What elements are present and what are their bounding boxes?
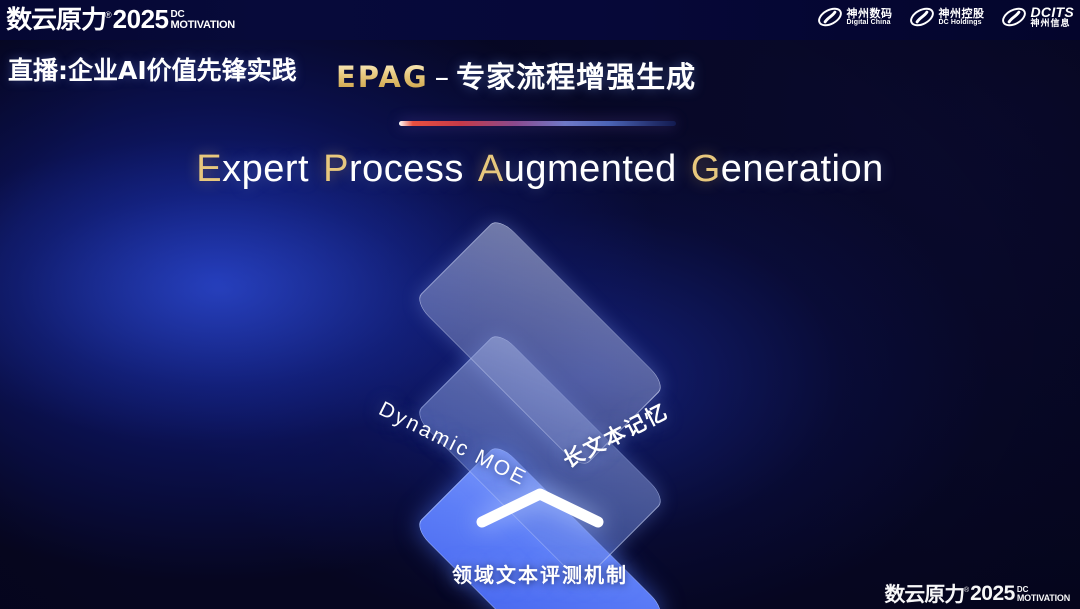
main-title-initial-2: P [323,148,349,190]
main-title-word-4: Generation [691,148,884,190]
partner-logo-text: 神州控股 DC Holdings [939,8,985,27]
watermark-motivation: MOTIVATION [1017,594,1070,603]
main-title: ExpertProcessAugmentedGeneration [0,148,1080,191]
live-stream-title: 直播:企业AI价值先锋实践 [8,51,297,87]
watermark-registered-mark: ® [964,587,969,594]
layered-architecture-diagram: 领域文本评测机制 Dynamic MOE 长文本记忆 三类语义建模模块 [296,228,784,564]
brand-logo-dc-block: DC MOTIVATION [171,10,235,31]
footer-watermark-logo: 数云原力 ® 2025 DC MOTIVATION [886,583,1070,604]
brand-logo: 数云原力 ® 2025 DC MOTIVATION [8,6,235,32]
partner-logo-text: 神州数码 Digital China [847,8,893,27]
watermark-logo-year: 2025 [970,583,1015,604]
watermark-dc-block: DC MOTIVATION [1017,586,1070,603]
swirl-icon [1001,4,1027,30]
main-title-rest-4: eneration [721,148,884,190]
partner-logo-dc-holdings: 神州控股 DC Holdings [909,4,985,30]
partner-logo-digital-china: 神州数码 Digital China [817,4,893,30]
main-title-word-3: Augmented [478,148,677,190]
headline-abbreviation: EPAG [336,60,429,94]
partner-logo-text: DCITS 神州信息 [1031,5,1075,29]
partner-logo-group: 神州数码 Digital China 神州控股 DC Holdings [817,4,1075,30]
partner-name-cn: 神州控股 [939,8,985,20]
gradient-divider [399,121,676,126]
partner-name-en: 神州信息 [1031,20,1075,29]
partner-name-cn: DCITS [1031,5,1075,20]
main-title-word-1: Expert [196,148,309,190]
main-title-word-2: Process [323,148,464,190]
watermark-logo-cn: 数云原力 [885,584,965,604]
main-title-initial-1: E [196,148,222,190]
slide-headline: EPAG–专家流程增强生成 [336,54,696,96]
slide-canvas: 数云原力 ® 2025 DC MOTIVATION 直播:企业AI价值先锋实践 … [0,0,1080,609]
headline-dash: – [435,60,451,94]
swirl-icon [817,4,843,30]
partner-name-en: Digital China [847,19,893,26]
brand-logo-registered-mark: ® [105,11,112,20]
main-title-initial-4: G [691,148,721,190]
brand-logo-year: 2025 [113,6,169,32]
partner-name-cn: 神州数码 [847,8,893,20]
main-title-rest-1: xpert [222,148,309,190]
partner-logo-dcits: DCITS 神州信息 [1001,4,1075,30]
headline-chinese: 专家流程增强生成 [456,60,696,94]
main-title-rest-3: ugmented [504,148,677,190]
brand-logo-cn: 数云原力 [6,7,106,32]
main-title-initial-3: A [478,148,504,190]
swirl-icon [909,4,935,30]
partner-name-en: DC Holdings [939,19,985,26]
brand-logo-motivation: MOTIVATION [171,20,235,31]
main-title-rest-2: rocess [349,148,464,190]
